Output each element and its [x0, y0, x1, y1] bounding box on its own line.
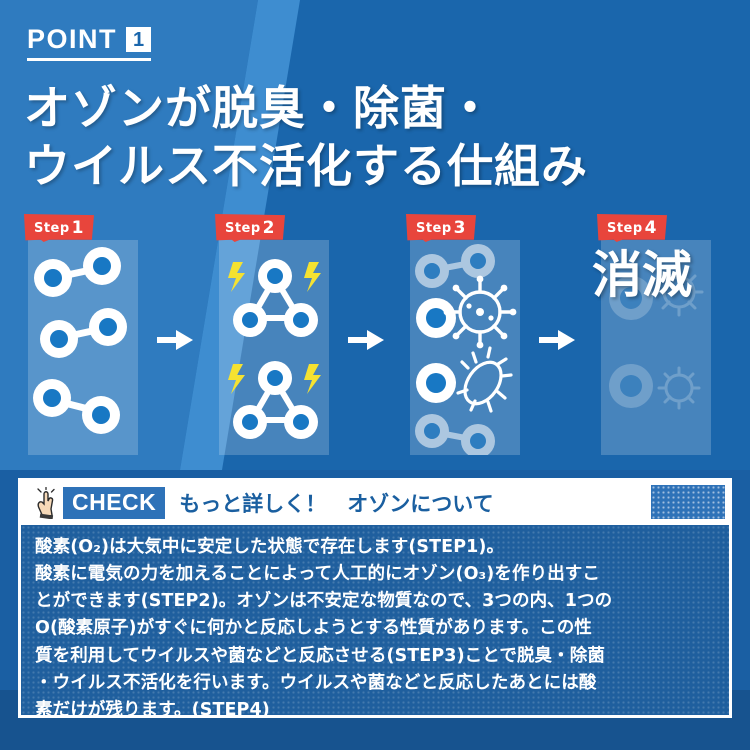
- virus-icon: [444, 276, 517, 349]
- step-tag-prefix-3: Step: [416, 221, 452, 236]
- infographic-root: POINT 1 オゾンが脱臭・除菌・ ウイルス不活化する仕組み Step1: [0, 0, 750, 750]
- page-title-line-1: オゾンが脱臭・除菌・: [24, 80, 734, 138]
- check-body-line-6: ・ウイルス不活化を行います。ウイルスや菌などと反応したあとには酸: [35, 670, 717, 697]
- step-tag-number-1: 1: [72, 218, 84, 238]
- check-box: CHECK もっと詳しく！ オゾンについて 酸素(O₂)は大気中に安定した状態で…: [18, 478, 732, 718]
- page-title: オゾンが脱臭・除菌・ ウイルス不活化する仕組み: [24, 80, 734, 195]
- ozone-molecules-with-lightning-icon: [219, 240, 329, 455]
- check-body-line-4: O(酸素原子)がすぐに何かと反応しようとする性質があります。この性: [35, 615, 717, 642]
- step-tag-prefix-4: Step: [607, 221, 643, 236]
- steps-row: Step1: [0, 212, 750, 464]
- check-body-line-2: 酸素に電気の力を加えることによって人工的にオゾン(O₃)を作り出すこ: [35, 561, 717, 588]
- right-arrow-icon-1: [157, 330, 193, 350]
- step-panel-4: Step4 消滅: [587, 212, 725, 464]
- step-tag-number-4: 4: [645, 218, 657, 238]
- molecules-virus-bacteria-icon: [410, 240, 520, 455]
- step-tag-2: Step2: [215, 214, 285, 242]
- check-body-line-3: とができます(STEP2)。オゾンは不安定な物質なので、3つの内、1つの: [35, 588, 717, 615]
- step-tag-number-2: 2: [263, 218, 275, 238]
- check-badge-label: CHECK: [63, 487, 165, 518]
- step-tag-prefix-2: Step: [225, 221, 261, 236]
- step-panel-3: Step3: [396, 212, 534, 464]
- check-body-line-1: 酸素(O₂)は大気中に安定した状態で存在します(STEP1)。: [35, 534, 717, 561]
- step-tag-1: Step1: [24, 214, 94, 242]
- point-badge-row: POINT 1: [27, 26, 151, 61]
- right-arrow-icon-2: [348, 330, 384, 350]
- step-panel-2: Step2: [205, 212, 343, 464]
- bacteria-icon: [458, 348, 511, 411]
- point-number: 1: [126, 27, 151, 52]
- oxygen-molecules-icon-1: [28, 240, 138, 455]
- step-panel-1: Step1: [14, 212, 152, 464]
- step-tag-number-3: 3: [454, 218, 466, 238]
- elimination-text: 消滅: [587, 246, 697, 305]
- check-header: CHECK もっと詳しく！ オゾンについて: [21, 481, 729, 525]
- page-title-line-2: ウイルス不活化する仕組み: [24, 138, 734, 196]
- step-tag-prefix-1: Step: [34, 221, 70, 236]
- check-body-line-7: 素だけが残ります。(STEP4): [35, 697, 717, 724]
- pointing-finger-icon: [31, 487, 61, 519]
- step-tag-3: Step3: [406, 214, 476, 242]
- dots-decoration: [651, 485, 725, 519]
- step-tag-4: Step4: [597, 214, 667, 242]
- check-subtitle: もっと詳しく！ オゾンについて: [179, 488, 493, 518]
- right-arrow-icon-3: [539, 330, 575, 350]
- check-body-line-5: 質を利用してウイルスや菌などと反応させる(STEP3)ことで脱臭・除菌: [35, 643, 717, 670]
- point-label: POINT: [27, 26, 117, 53]
- check-body: 酸素(O₂)は大気中に安定した状態で存在します(STEP1)。 酸素に電気の力を…: [21, 525, 729, 715]
